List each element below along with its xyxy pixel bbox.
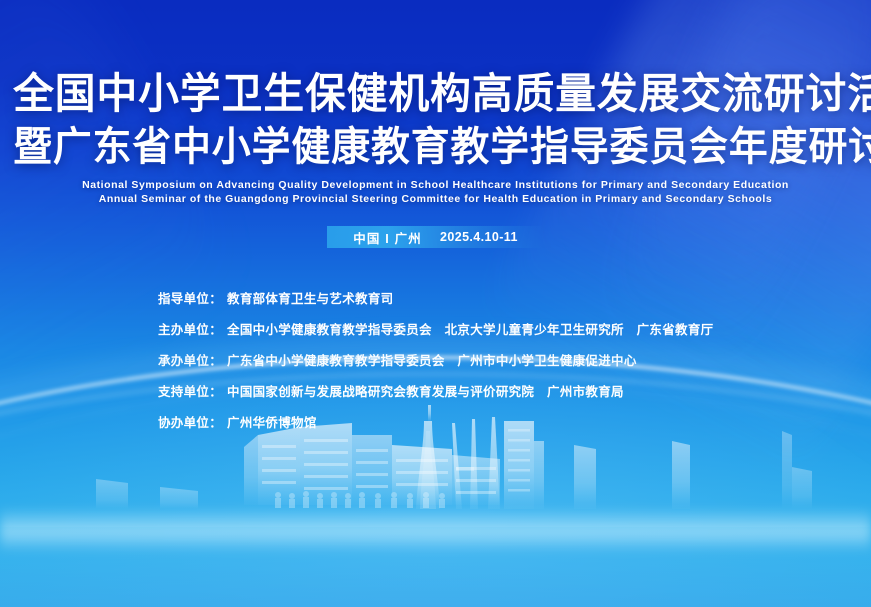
- organizer-list: 指导单位： 教育部体育卫生与艺术教育司 主办单位： 全国中小学健康教育教学指导委…: [158, 288, 858, 443]
- badge-location: 中国 I 广州: [353, 228, 422, 247]
- right-tower-icon: [672, 441, 690, 509]
- organizer-value: 广东省中小学健康教育教学指导委员会 广州市中小学卫生健康促进中心: [227, 350, 637, 369]
- organizer-value: 中国国家创新与发展战略研究会教育发展与评价研究院 广州市教育局: [227, 381, 624, 400]
- students-crowd: [275, 491, 445, 508]
- organizer-row: 支持单位： 中国国家创新与发展战略研究会教育发展与评价研究院 广州市教育局: [158, 381, 858, 400]
- poster-subtitle-line-2: Annual Seminar of the Guangdong Provinci…: [0, 193, 871, 205]
- location-date-badge: 中国 I 广州 2025.4.10-11: [327, 226, 544, 248]
- ground-gradient: [0, 527, 871, 607]
- organizer-label: 主办单位：: [158, 319, 222, 338]
- badge-date: 2025.4.10-11: [440, 230, 518, 244]
- organizer-label: 指导单位：: [158, 288, 222, 307]
- title-block: 全国中小学卫生保健机构高质量发展交流研讨活动 暨广东省中小学健康教育教学指导委员…: [0, 68, 871, 172]
- organizer-value: 全国中小学健康教育教学指导委员会 北京大学儿童青少年卫生研究所 广东省教育厅: [227, 319, 713, 338]
- organizer-row: 协办单位： 广州华侨博物馆: [158, 412, 858, 431]
- badge-container: 中国 I 广州 2025.4.10-11: [0, 226, 871, 248]
- poster-title-line-2: 暨广东省中小学健康教育教学指导委员会年度研讨活动: [13, 122, 858, 172]
- organizer-label: 协办单位：: [158, 412, 222, 431]
- poster-subtitle-line-1: National Symposium on Advancing Quality …: [0, 179, 871, 191]
- conference-poster: 全国中小学卫生保健机构高质量发展交流研讨活动 暨广东省中小学健康教育教学指导委员…: [0, 0, 871, 607]
- organizer-value: 教育部体育卫生与艺术教育司: [227, 288, 393, 307]
- organizer-label: 支持单位：: [158, 381, 222, 400]
- horizon-haze: [0, 507, 871, 553]
- organizer-row: 指导单位： 教育部体育卫生与艺术教育司: [158, 288, 858, 307]
- organizer-row: 主办单位： 全国中小学健康教育教学指导委员会 北京大学儿童青少年卫生研究所 广东…: [158, 319, 858, 338]
- organizer-label: 承办单位：: [158, 350, 222, 369]
- poster-title-line-1: 全国中小学卫生保健机构高质量发展交流研讨活动: [13, 68, 858, 120]
- organizer-row: 承办单位： 广东省中小学健康教育教学指导委员会 广州市中小学卫生健康促进中心: [158, 350, 858, 369]
- mid-tower-icon: [574, 445, 596, 509]
- background-buildings-icon: [96, 479, 198, 509]
- organizer-value: 广州华侨博物馆: [227, 412, 317, 431]
